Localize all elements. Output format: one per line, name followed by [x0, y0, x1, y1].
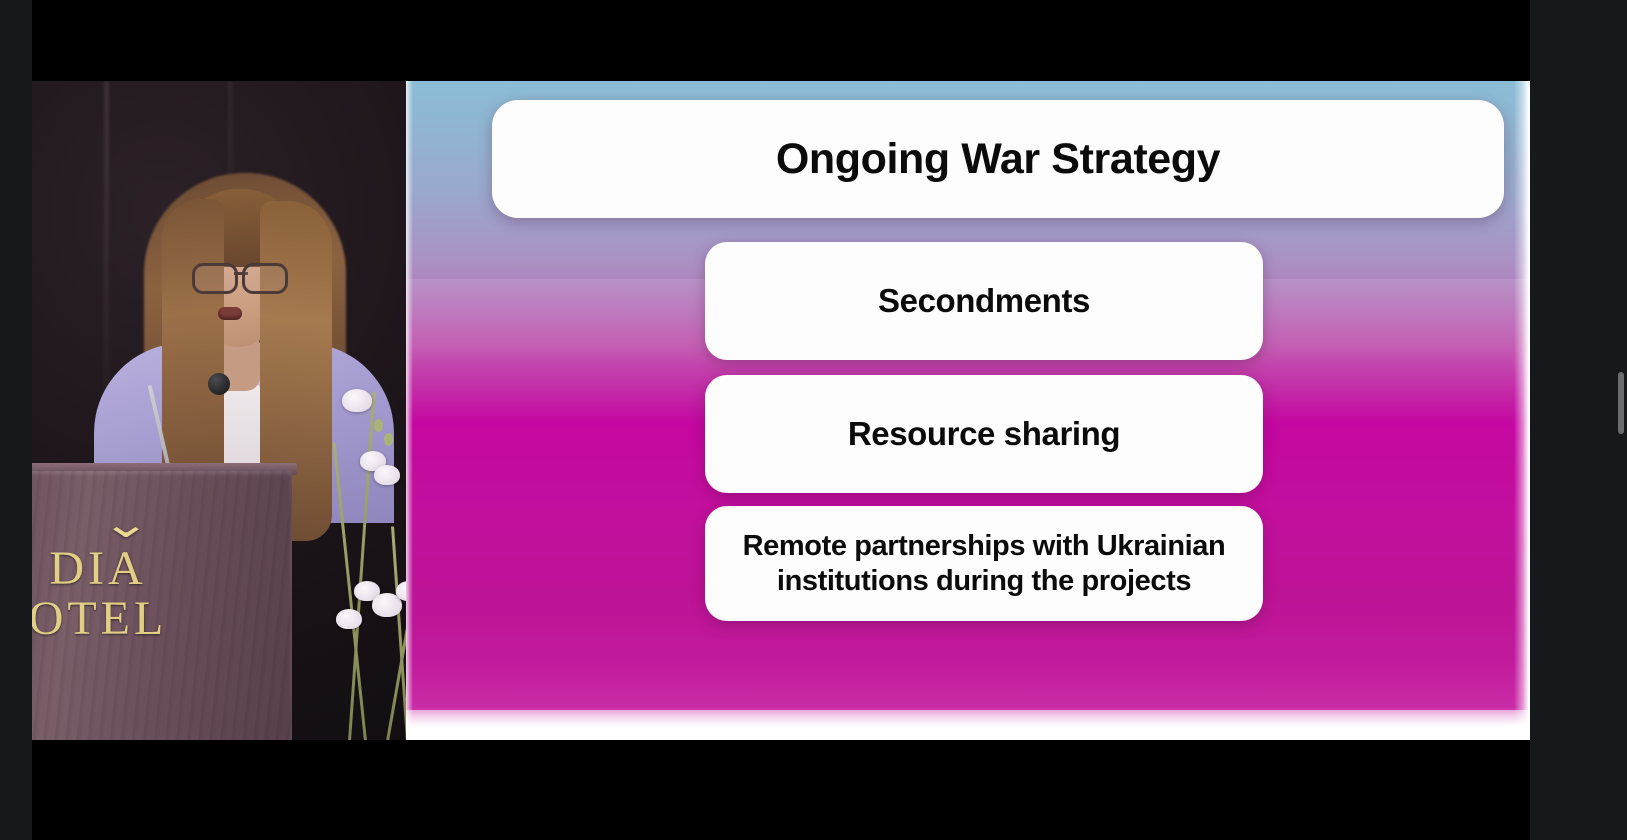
slide-right-edge	[1514, 81, 1530, 740]
microphone-head-icon	[208, 373, 230, 395]
slide-title-card: Ongoing War Strategy	[492, 100, 1504, 218]
slide-item-card-remote-partnerships: Remote partnerships with Ukrainian insti…	[705, 506, 1263, 621]
letterbox-top-bar	[32, 0, 1530, 81]
slide-item-card-resource-sharing: Resource sharing	[705, 375, 1263, 493]
stage-camera-view: ⌄ DIA OTEL	[32, 81, 406, 740]
page-root: ⌄ DIA OTEL	[0, 0, 1627, 840]
orchid-bud	[384, 433, 393, 446]
eyeglasses-icon	[192, 263, 288, 289]
letterbox-bottom-bar	[32, 740, 1530, 840]
speaker-mouth	[218, 307, 242, 320]
presentation-slide: Ongoing War Strategy Secondments Resourc…	[406, 81, 1530, 740]
eyeglass-lens-right	[242, 263, 288, 294]
orchid-stem	[348, 392, 375, 740]
orchid-flower	[342, 389, 372, 412]
podium	[32, 471, 292, 740]
video-frame[interactable]: ⌄ DIA OTEL	[32, 81, 1530, 740]
eyeglass-lens-left	[192, 263, 238, 294]
orchid-bud	[374, 419, 383, 432]
slide-item-card-secondments: Secondments	[705, 242, 1263, 360]
slide-bottom-band	[406, 710, 1530, 740]
scrollbar-thumb[interactable]	[1618, 372, 1624, 434]
orchid-flower	[374, 465, 400, 485]
orchid-flower	[336, 609, 362, 629]
slide-left-edge	[406, 81, 413, 740]
page-scrollbar[interactable]	[1616, 0, 1627, 840]
video-player[interactable]: ⌄ DIA OTEL	[32, 0, 1530, 840]
orchid-arrangement	[302, 381, 406, 740]
